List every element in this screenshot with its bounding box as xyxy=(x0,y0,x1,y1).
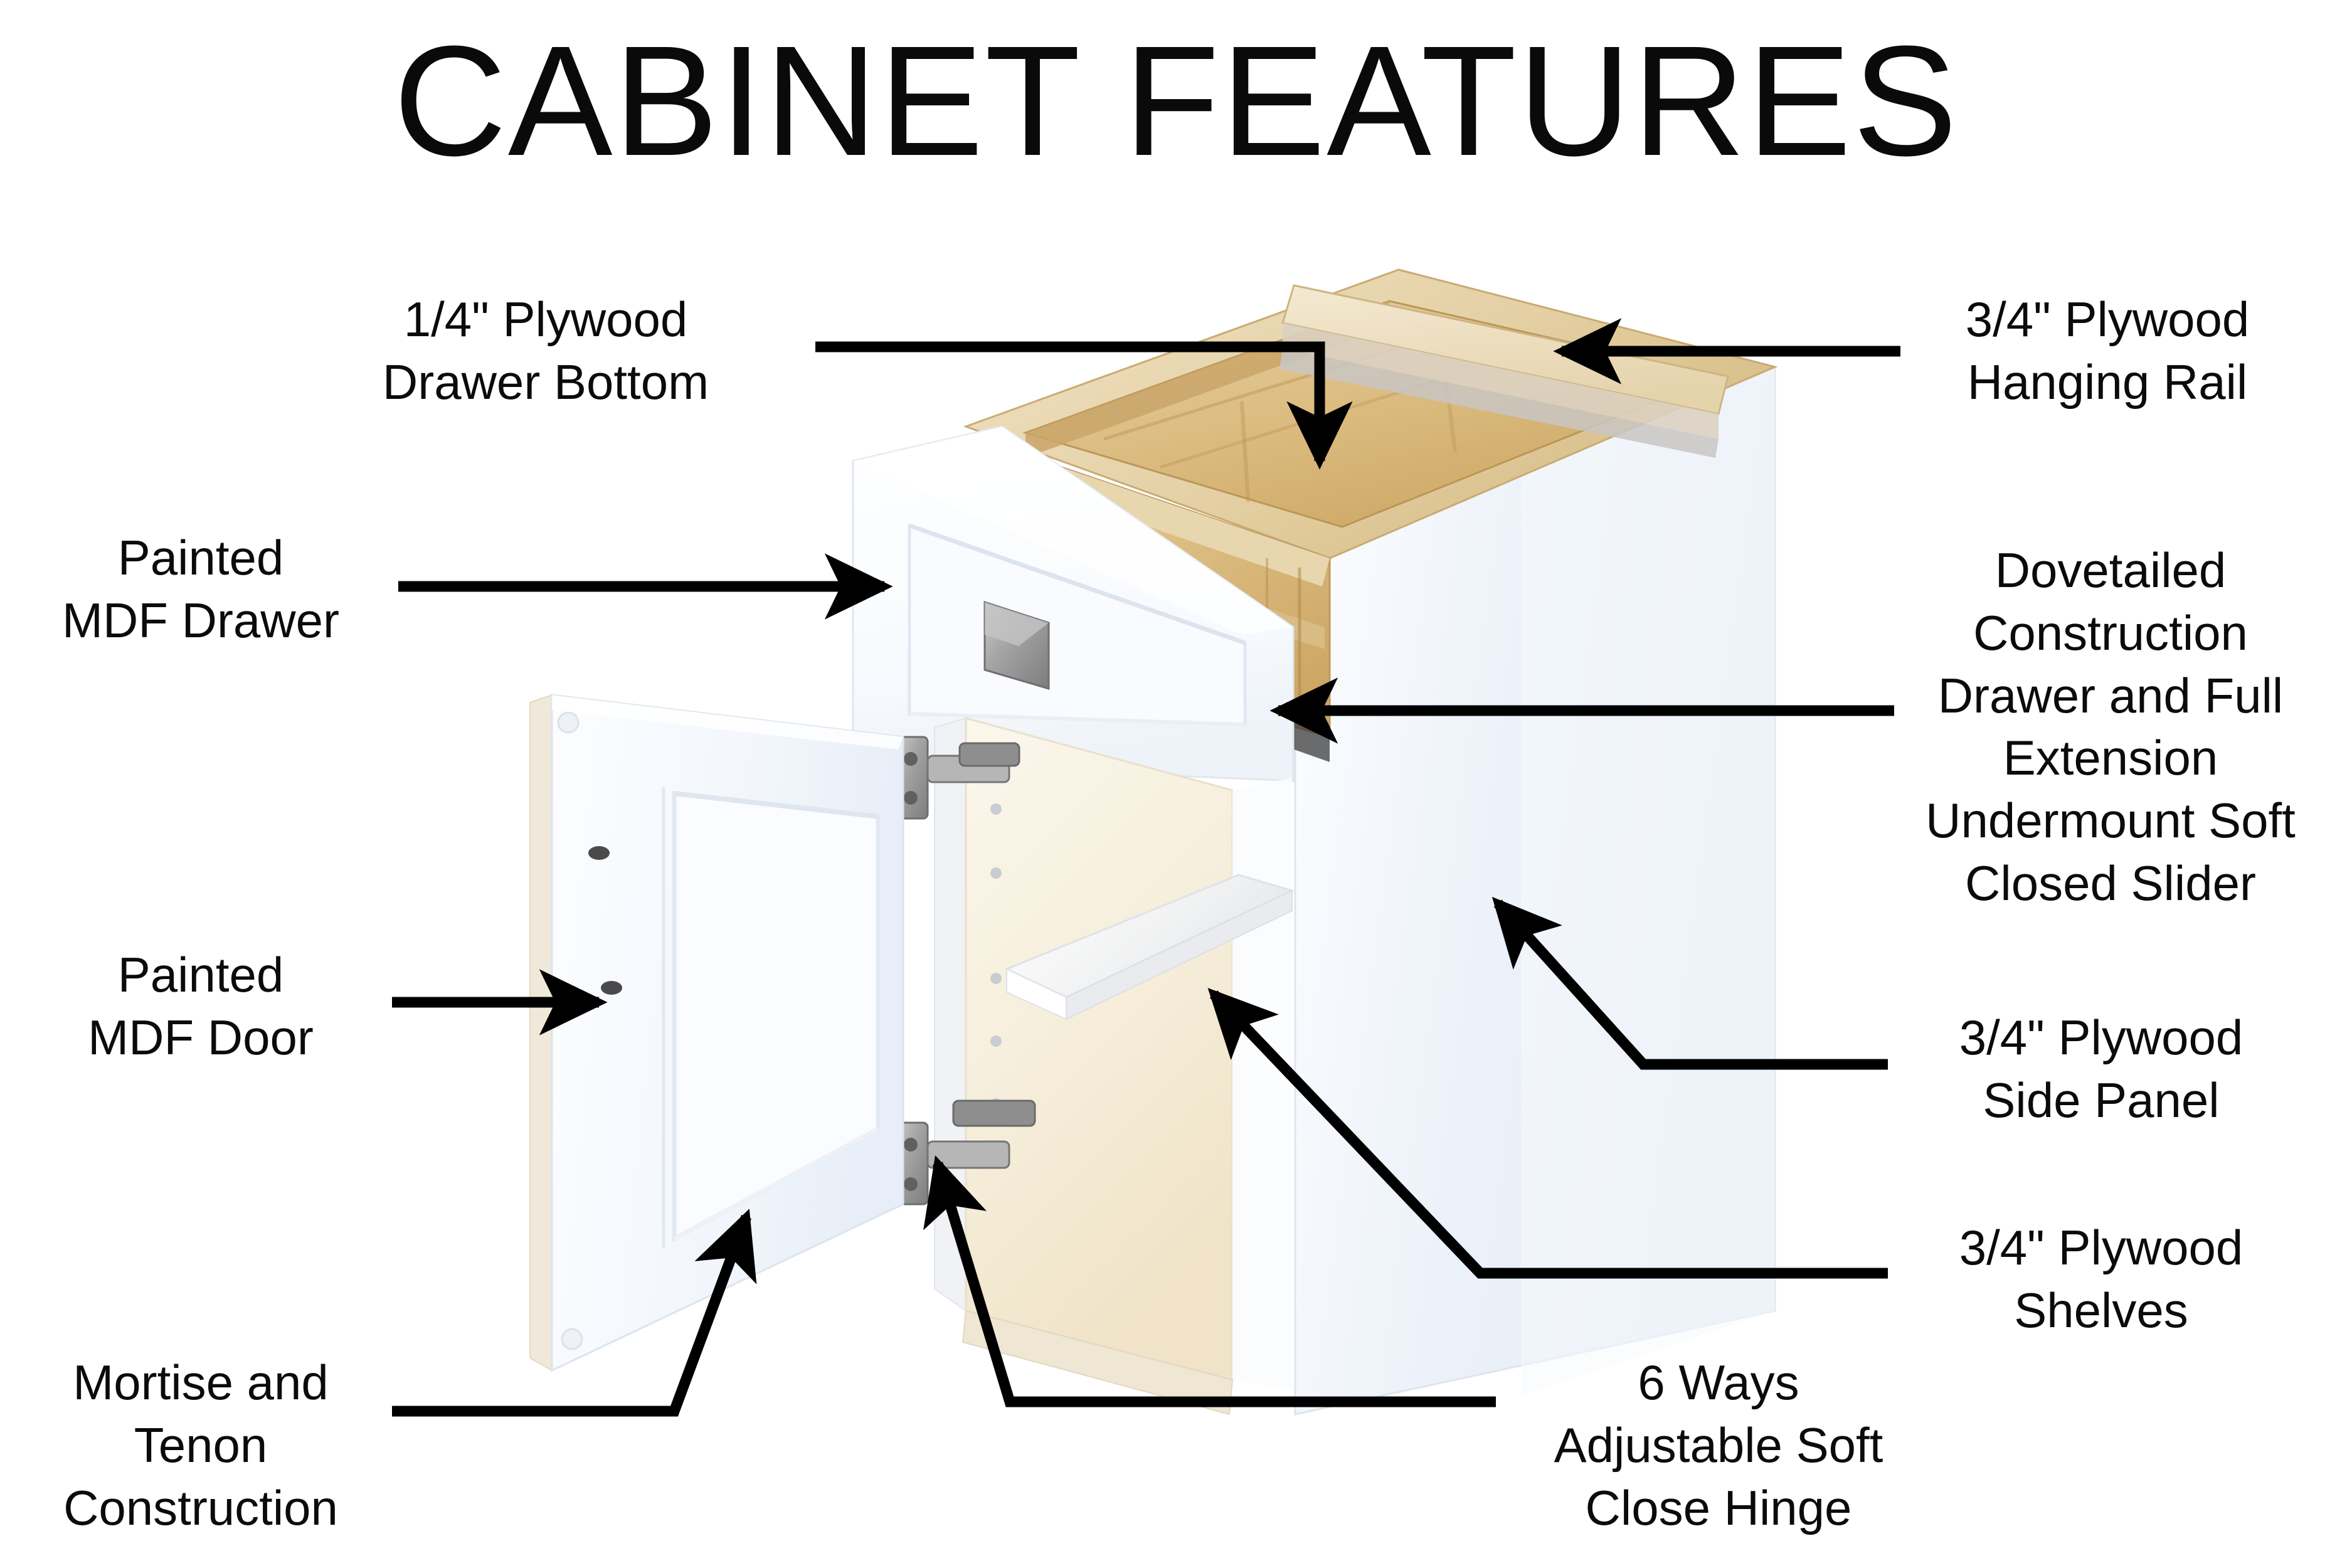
callout-label-painted-mdf-door: Painted MDF Door xyxy=(13,944,389,1069)
drawer-knob xyxy=(985,602,1049,689)
cabinet-door xyxy=(530,695,903,1370)
cabinet-features-infographic: CABINET FEATURES xyxy=(0,0,2352,1568)
leader-mortise-tenon xyxy=(392,1217,746,1411)
hinge-lower xyxy=(894,1101,1035,1204)
leader-shelves xyxy=(1214,994,1888,1273)
callout-label-drawer-bottom: 1/4" Plywood Drawer Bottom xyxy=(339,289,753,414)
drawer-front xyxy=(853,426,1293,781)
drawer-box xyxy=(971,439,1330,762)
cabinet-top-deck xyxy=(966,270,1775,558)
page-title: CABINET FEATURES xyxy=(0,19,2352,184)
callout-label-side-panel: 3/4" Plywood Side Panel xyxy=(1894,1007,2308,1132)
callout-label-painted-mdf-drawer: Painted MDF Drawer xyxy=(13,527,389,652)
hanging-rail xyxy=(1279,285,1728,458)
cabinet-shelf xyxy=(1007,875,1292,1019)
leader-soft-close-hinge xyxy=(938,1163,1496,1402)
leader-side-panel xyxy=(1498,903,1888,1064)
cabinet-side-panel xyxy=(1295,367,1775,1414)
cabinet-interior xyxy=(935,718,1292,1414)
callout-label-hanging-rail: 3/4" Plywood Hanging Rail xyxy=(1907,289,2308,414)
callout-label-mortise-tenon: Mortise and Tenon Construction xyxy=(13,1352,389,1539)
leader-drawer-bottom xyxy=(815,347,1320,461)
callout-label-soft-close-hinge: 6 Ways Adjustable Soft Close Hinge xyxy=(1499,1352,1938,1539)
callout-label-dovetailed-slider: Dovetailed Construction Drawer and Full … xyxy=(1897,539,2324,915)
hinge-upper xyxy=(894,737,1019,818)
callout-label-shelves: 3/4" Plywood Shelves xyxy=(1894,1217,2308,1342)
